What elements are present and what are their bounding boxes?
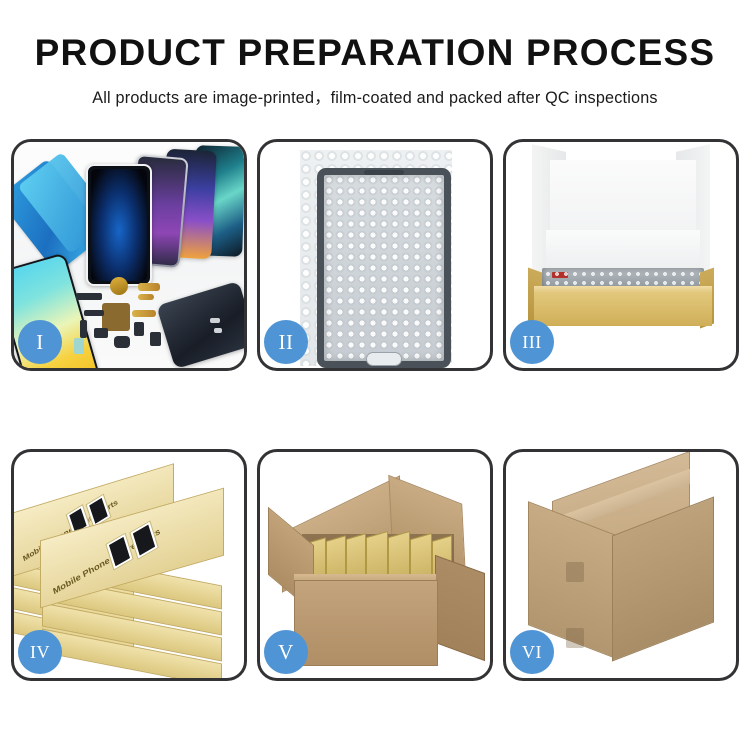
- step-panel-6[interactable]: VI: [503, 449, 739, 681]
- page-subtitle: All products are image-printed，film-coat…: [0, 84, 750, 108]
- step-panel-2[interactable]: II: [257, 139, 493, 371]
- step-panel-4[interactable]: Mobile Phone Spare Parts Mobile Phone Sp…: [11, 449, 247, 681]
- step-badge-6: VI: [510, 630, 554, 674]
- process-steps-grid: I II: [11, 139, 739, 681]
- page-title: PRODUCT PREPARATION PROCESS: [0, 34, 750, 73]
- step-badge-4: IV: [18, 630, 62, 674]
- step-badge-2: II: [264, 320, 308, 364]
- step-badge-3: III: [510, 320, 554, 364]
- header: PRODUCT PREPARATION PROCESS All products…: [0, 0, 750, 108]
- step-panel-1[interactable]: I: [11, 139, 247, 371]
- step-badge-1: I: [18, 320, 62, 364]
- step-badge-5: V: [264, 630, 308, 674]
- step-panel-5[interactable]: V: [257, 449, 493, 681]
- step-panel-3[interactable]: III: [503, 139, 739, 371]
- product-preparation-infographic: PRODUCT PREPARATION PROCESS All products…: [0, 0, 750, 750]
